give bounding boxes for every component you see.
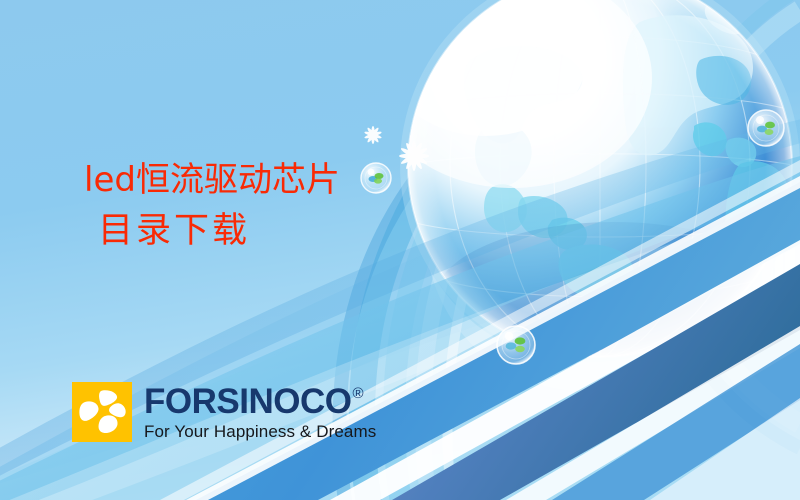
forsinoco-flower-mark-icon <box>72 382 132 442</box>
bubble-middle <box>361 163 391 193</box>
wordmark: FORSINOCO ® <box>144 384 376 419</box>
promo-banner: led恒流驱动芯片 目录下载 FORSINOCO ® For Your Happ… <box>0 0 800 500</box>
flower-petals-icon <box>72 382 132 442</box>
bubble-lower-left <box>497 326 535 364</box>
company-tagline: For Your Happiness & Dreams <box>144 422 376 442</box>
company-name: FORSINOCO <box>144 384 351 419</box>
bubble-top-right <box>748 110 784 146</box>
logo-text-block: FORSINOCO ® For Your Happiness & Dreams <box>144 382 376 442</box>
company-logo-lockup: FORSINOCO ® For Your Happiness & Dreams <box>72 382 376 442</box>
registered-trademark-symbol: ® <box>352 386 363 401</box>
